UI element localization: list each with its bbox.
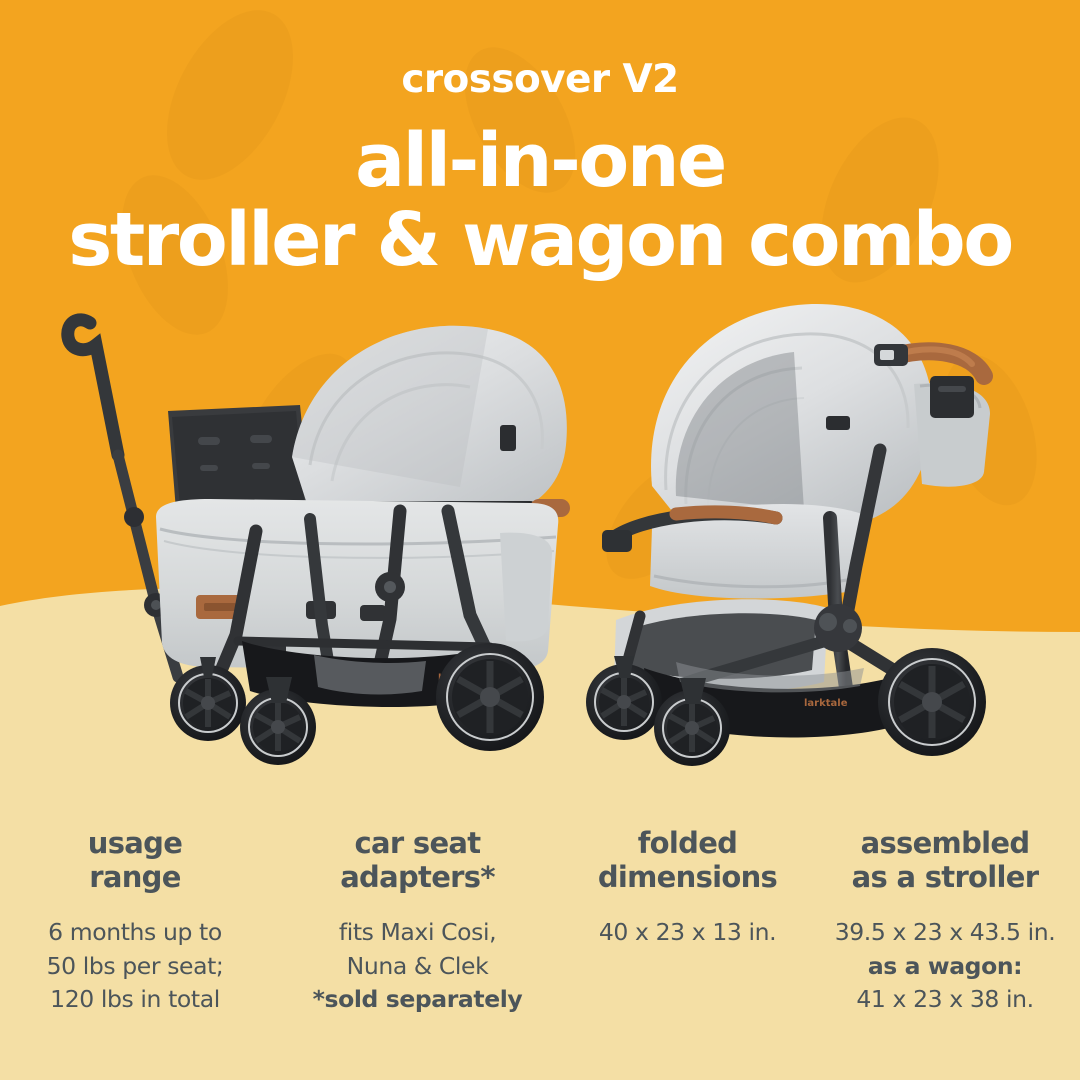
stroller-parent-pocket (914, 376, 990, 487)
marketing-banner: crossover V2 all-in-one stroller & wagon… (0, 0, 1080, 1080)
spec-note-as-a-wagon: as a wagon: (816, 950, 1074, 983)
svg-text:larktale: larktale (804, 698, 848, 709)
stroller-mode-product-photo: larktale (580, 290, 1040, 780)
stroller-canopy (651, 304, 932, 526)
spec-column-assembled-dimensions: assembled as a stroller 39.5 x 23 x 43.5… (810, 826, 1080, 1017)
wheel-rear-large (878, 648, 986, 756)
spec-body-car-seat-adapters: fits Maxi Cosi, Nuna & Clek (276, 916, 559, 983)
spec-title-car-seat-adapters: car seat adapters* (276, 826, 559, 894)
spec-body-assembled-wagon-dimensions: 41 x 23 x 38 in. (816, 983, 1074, 1016)
spec-body-usage-range: 6 months up to 50 lbs per seat; 120 lbs … (6, 916, 264, 1016)
spec-title-usage-range: usage range (6, 826, 264, 894)
spec-title-assembled-as-stroller: assembled as a stroller (816, 826, 1074, 894)
product-eyebrow-title: crossover V2 (0, 57, 1080, 102)
spec-column-usage-range: usage range 6 months up to 50 lbs per se… (0, 826, 270, 1017)
spec-body-folded-dimensions: 40 x 23 x 13 in. (571, 916, 804, 949)
wheel-rear-large (436, 643, 544, 751)
spec-column-car-seat-adapters: car seat adapters* fits Maxi Cosi, Nuna … (270, 826, 565, 1017)
spec-body-assembled-stroller-dimensions: 39.5 x 23 x 43.5 in. (816, 916, 1074, 949)
headline-line-2: stroller & wagon combo (0, 203, 1080, 277)
wagon-canopy (292, 326, 567, 515)
spec-title-folded-dimensions: folded dimensions (571, 826, 804, 894)
specifications-row: usage range 6 months up to 50 lbs per se… (0, 826, 1080, 1046)
wagon-mode-product-photo: larktale (60, 305, 600, 780)
spec-column-folded-dimensions: folded dimensions 40 x 23 x 13 in. (565, 826, 810, 950)
spec-note-sold-separately: *sold separately (276, 983, 559, 1016)
headline-line-1: all-in-one (0, 124, 1080, 198)
